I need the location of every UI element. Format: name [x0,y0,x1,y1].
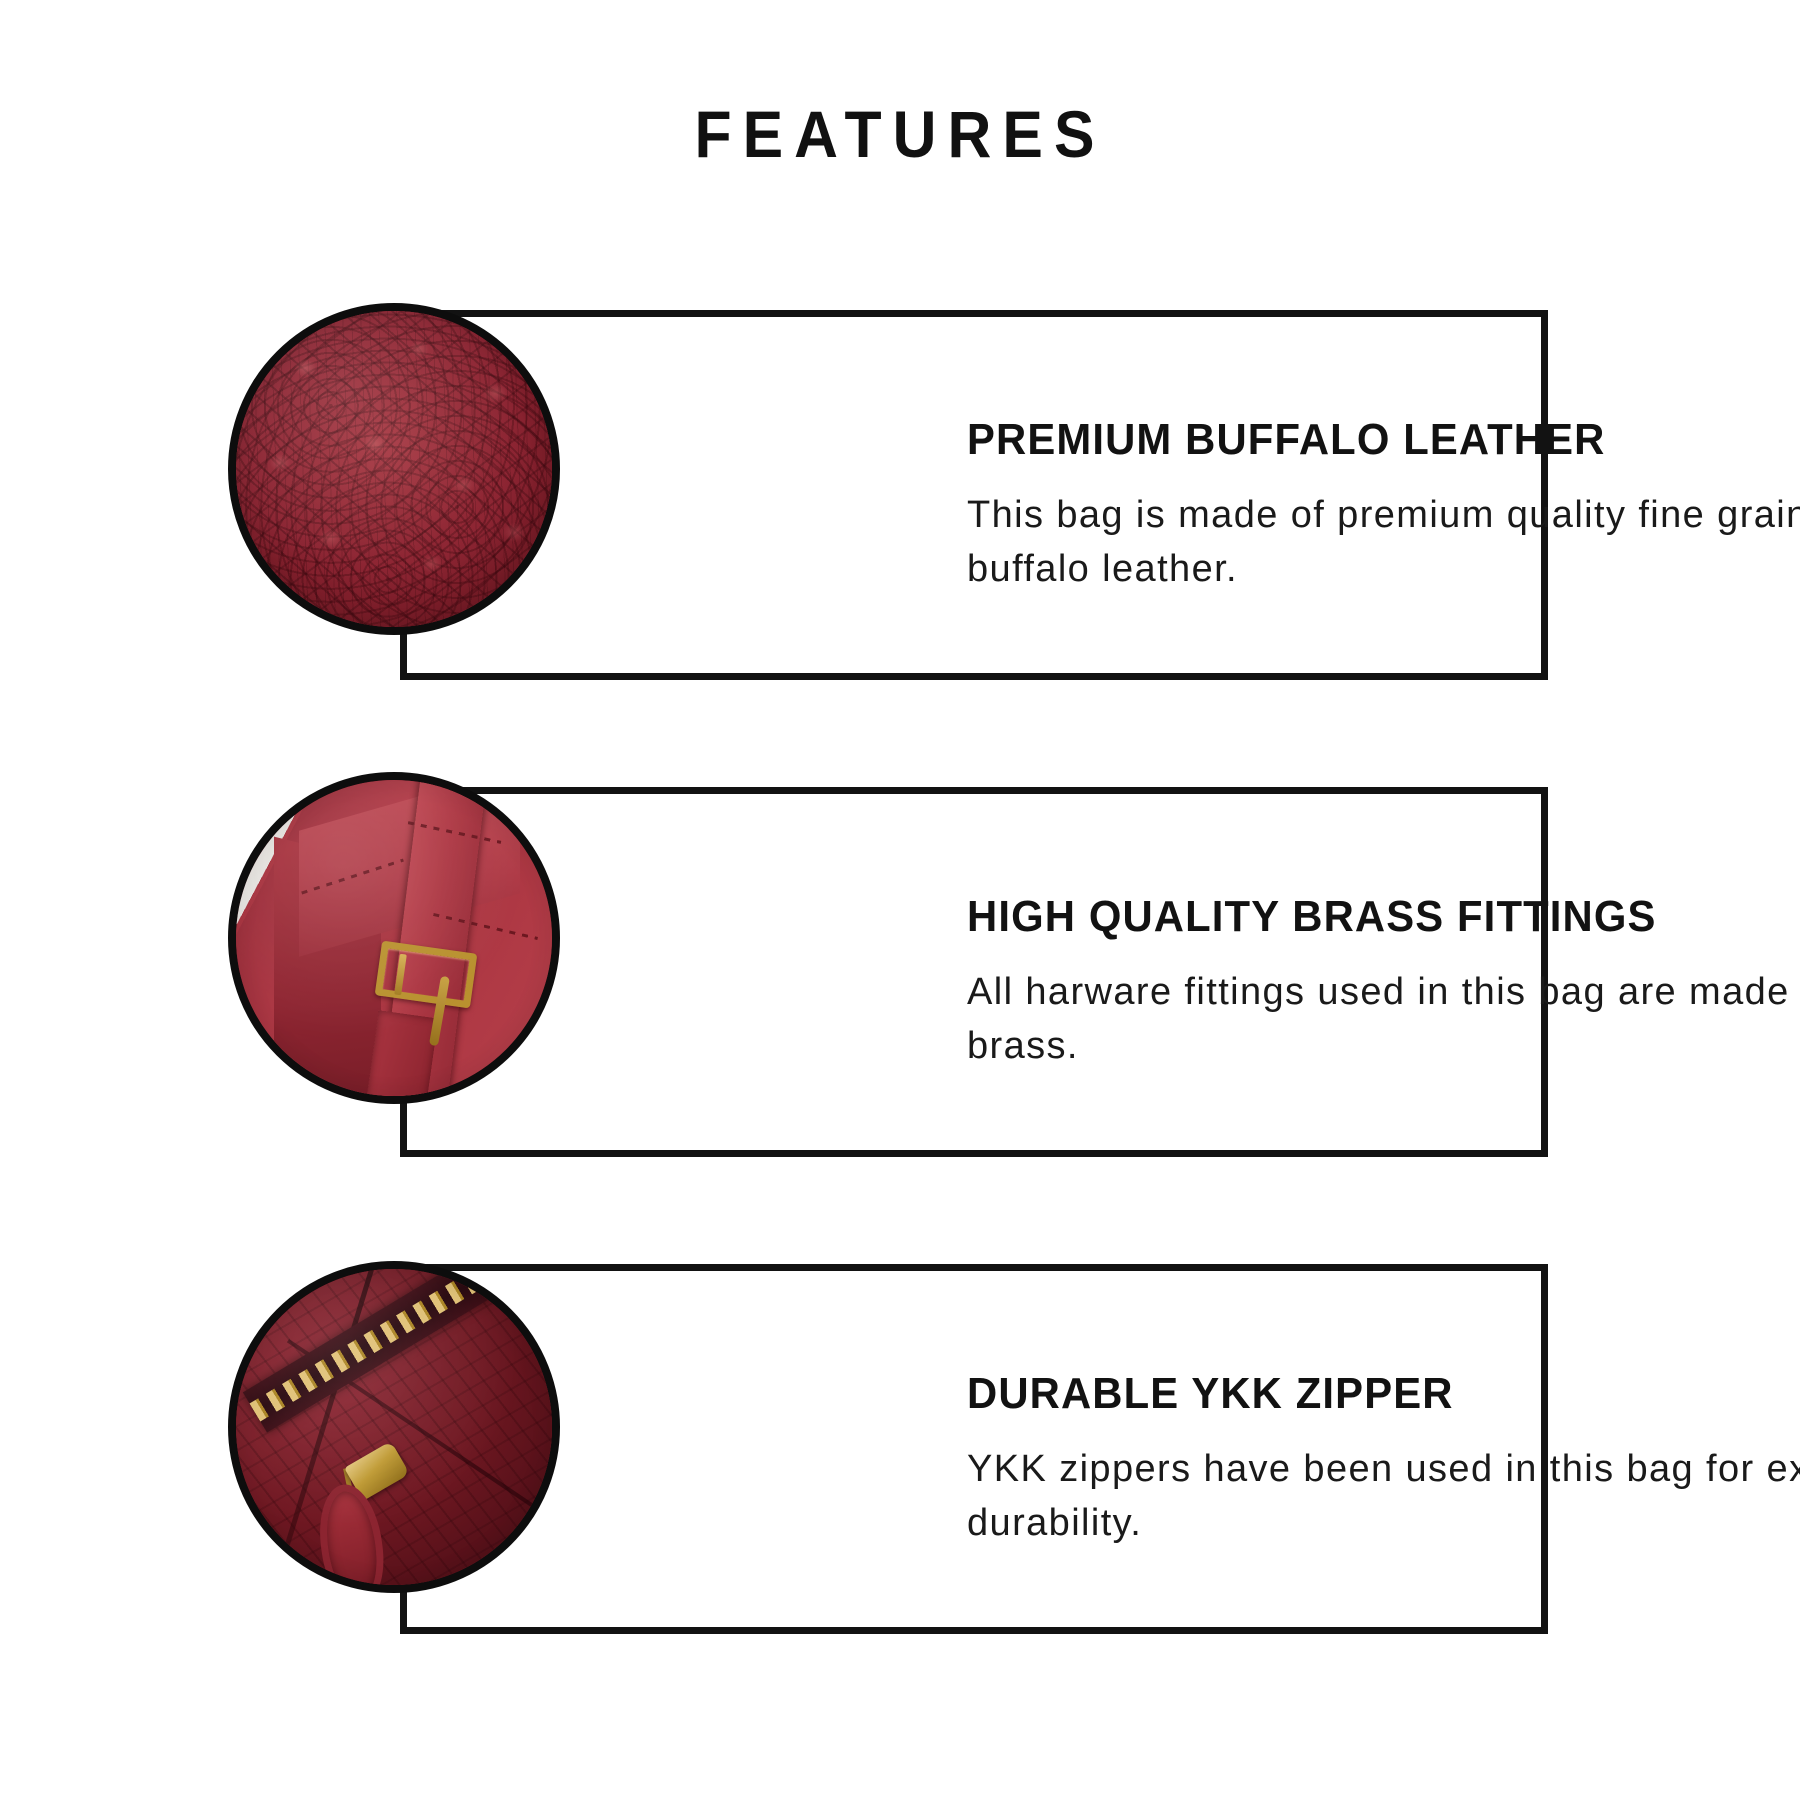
zipper-tape [243,1261,560,1433]
ykk-zipper-photo [228,1261,560,1593]
feature-row: DURABLE YKK ZIPPER YKK zippers have been… [0,1259,1800,1644]
feature-description: All harware fittings used in this bag ar… [967,966,1800,1074]
brass-buckle-fitting-photo [228,772,560,1104]
feature-heading: PREMIUM BUFFALO LEATHER [967,417,1800,463]
zipper-leather-pull-tab [313,1480,391,1593]
bag-corner-leather [236,780,552,1096]
buffalo-leather-grain-photo [228,303,560,635]
leather-texture [236,311,552,627]
feature-card: PREMIUM BUFFALO LEATHER This bag is made… [400,310,1548,680]
brass-buckle-icon [375,941,478,1009]
feature-description: This bag is made of premium quality fine… [967,489,1800,597]
feature-heading: DURABLE YKK ZIPPER [967,1371,1800,1417]
feature-text-block: PREMIUM BUFFALO LEATHER This bag is made… [967,317,1800,697]
features-infographic: FEATURES PREMIUM BUFFALO LEATHER This ba… [0,0,1800,1800]
feature-text-block: HIGH QUALITY BRASS FITTINGS All harware … [967,794,1800,1174]
zipper-teeth-icon [250,1261,560,1422]
feature-card: HIGH QUALITY BRASS FITTINGS All harware … [400,787,1548,1157]
feature-description: YKK zippers have been used in this bag f… [967,1443,1800,1551]
feature-card: DURABLE YKK ZIPPER YKK zippers have been… [400,1264,1548,1634]
feature-text-block: DURABLE YKK ZIPPER YKK zippers have been… [967,1271,1800,1651]
dark-leather-surface [236,1269,552,1585]
page-title: FEATURES [72,96,1728,172]
feature-row: PREMIUM BUFFALO LEATHER This bag is made… [0,305,1800,690]
feature-row: HIGH QUALITY BRASS FITTINGS All harware … [0,782,1800,1167]
feature-heading: HIGH QUALITY BRASS FITTINGS [967,894,1800,940]
strap-keeper-loop [366,1010,439,1104]
